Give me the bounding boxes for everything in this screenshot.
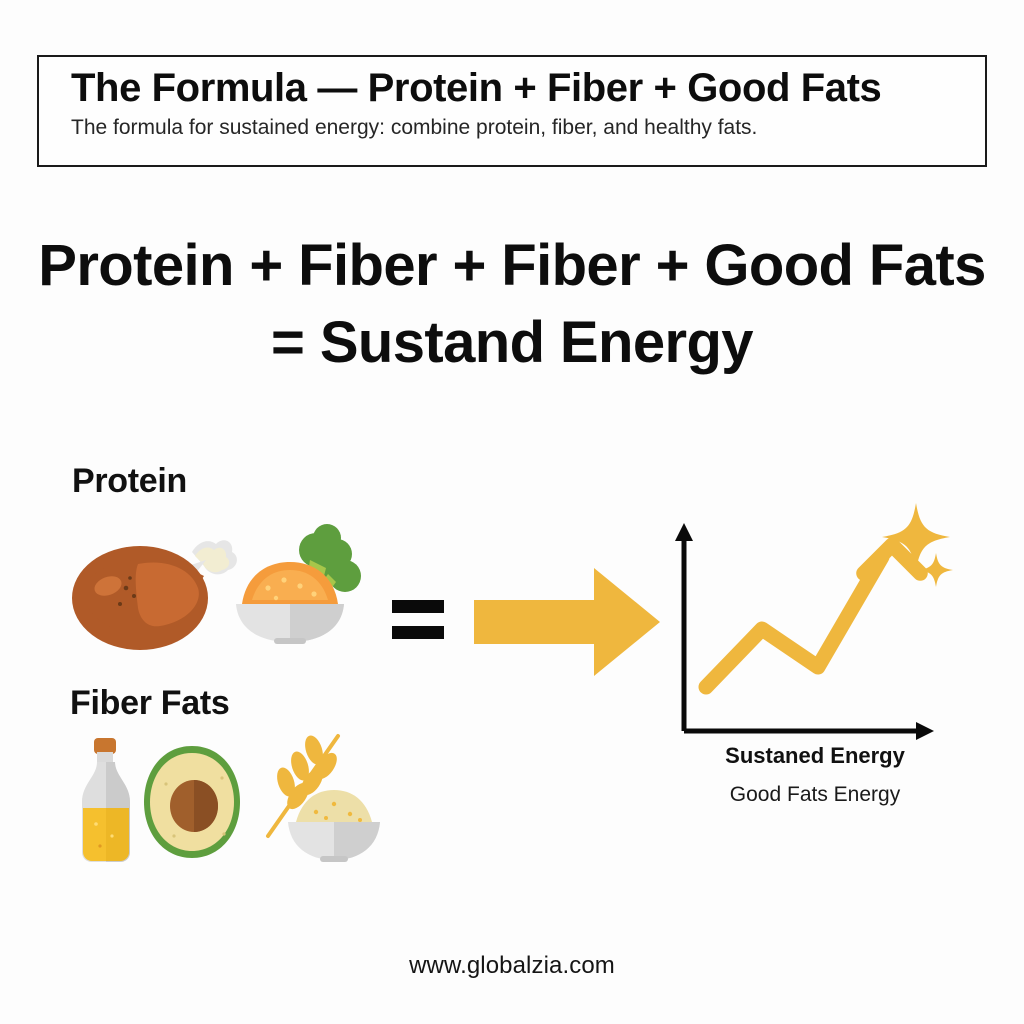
formula-headline: Protein + Fiber + Fiber + Good Fats = Su… [0, 228, 1024, 381]
avocado-half-icon [140, 744, 244, 860]
footer-url: www.globalzia.com [0, 952, 1024, 980]
equals-bar-top [392, 600, 444, 613]
olive-oil-bottle-icon [68, 736, 144, 864]
section-label-protein: Protein [72, 462, 187, 501]
sparkle-small-icon [919, 553, 953, 587]
chart-x-axis [684, 722, 934, 740]
chart-subtitle: Good Fats Energy [655, 782, 975, 808]
header-banner: The Formula — Protein + Fiber + Good Fat… [37, 55, 987, 167]
formula-line-1: Protein + Fiber + Fiber + Good Fats [0, 228, 1024, 305]
chart-title: Sustaned Energy [655, 742, 975, 770]
infographic-canvas: The Formula — Protein + Fiber + Good Fat… [0, 0, 1024, 1024]
formula-line-2: = Sustand Energy [0, 305, 1024, 382]
energy-line-chart [660, 485, 970, 745]
broccoli-rice-bowl-icon [232, 520, 364, 646]
chicken-drumstick-icon [64, 516, 236, 646]
grain-bowl-icon [286, 786, 382, 866]
chart-y-axis [675, 523, 693, 731]
arrow-right-icon [474, 566, 660, 678]
chart-data-line [706, 557, 882, 687]
page-subtitle: The formula for sustained energy: combin… [71, 116, 957, 139]
section-label-fiber-fats: Fiber Fats [70, 684, 229, 723]
page-title: The Formula — Protein + Fiber + Good Fat… [71, 67, 957, 109]
chart-captions: Sustaned Energy Good Fats Energy [655, 742, 975, 808]
equals-bar-bottom [392, 626, 444, 639]
sparkle-large-icon [882, 503, 950, 571]
equals-sign [392, 600, 444, 645]
